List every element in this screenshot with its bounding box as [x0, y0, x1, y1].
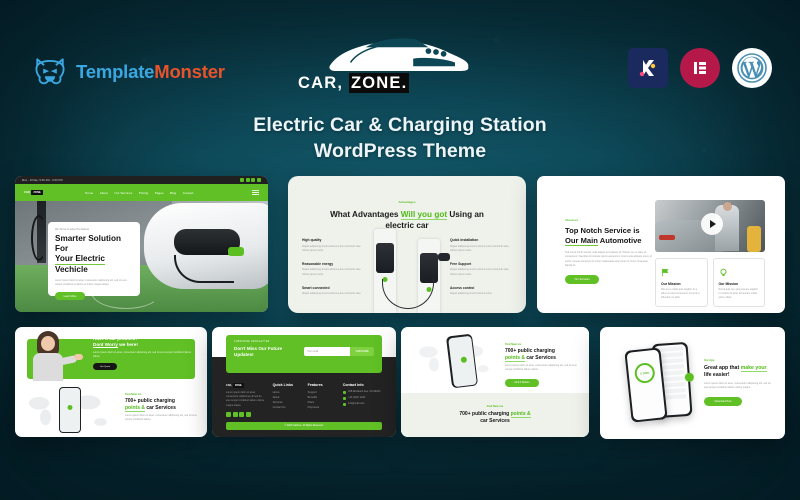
stations-heading: 700+ public charging points & car Servic… — [125, 398, 199, 411]
stations-bottom-band: Find Near me 700+ public charging points… — [401, 393, 589, 437]
person-face — [41, 336, 55, 351]
about-box-title: Our Mission — [661, 282, 702, 286]
person-body — [33, 353, 63, 381]
footer-logo-car: CAR, — [226, 384, 232, 387]
map-pin-icon — [68, 405, 73, 410]
feature-text: Aliquet adipiscing viverra ultrices puru… — [302, 245, 364, 253]
footer-contact-column: Contact Info 208 Elizabeth Ave, CA 94203… — [343, 383, 384, 417]
hero-kicker: We Serve to save The Nature — [55, 228, 133, 231]
stations-paragraph: Lorem ipsum dolor sit amet, consectetur … — [125, 414, 199, 422]
about-photo-taillight — [659, 235, 675, 240]
facebook-icon[interactable] — [226, 412, 231, 417]
hero-topbar-hours: Mon - Friday: 9:00 AM - 6:00 PM — [22, 179, 63, 182]
feature-title: Quick installation — [450, 238, 512, 242]
advantages-heading-a: What Advantages — [330, 210, 401, 219]
newsletter-email-input[interactable]: Your email — [304, 347, 350, 356]
screenshot-card-footer[interactable]: SUBSCRIBE NEWSLETTER Don't Miss Our Futu… — [212, 327, 396, 437]
footer-contact-address-text: 208 Elizabeth Ave, CA 94203 — [348, 390, 380, 394]
advantages-eyebrow: Advantages — [288, 200, 526, 204]
footer-quick-links-title: Quick Links — [273, 383, 301, 387]
feature-text: Aliquet adipiscing viverra ultrices puru… — [450, 292, 512, 296]
footer-logo[interactable]: CAR, ZONE. — [226, 383, 266, 388]
about-kicker: About us — [565, 218, 653, 222]
stations-bottom-heading: 700+ public charging points & car Servic… — [459, 411, 530, 424]
footer-contact-email[interactable]: info@mail.com — [343, 402, 384, 406]
footer-link-contact-us[interactable]: Contact Us — [273, 405, 301, 410]
hero-learn-more-button[interactable]: Learn More — [55, 292, 85, 300]
footer-social-icons[interactable] — [226, 412, 266, 417]
footer-brand-column: CAR, ZONE. Lorem ipsum dolor sit amet, c… — [226, 383, 266, 417]
stations-heading-highlight: points & — [505, 355, 525, 362]
hero-paragraph: Lorem ipsum dolor sit amet, consectetur … — [55, 279, 133, 287]
nav-item-pages[interactable]: Pages — [155, 191, 164, 195]
footer-contact-title: Contact Info — [343, 383, 384, 387]
footer-contact-email-text: info@mail.com — [348, 402, 365, 406]
stations-bottom-line2: car Services — [480, 418, 509, 424]
charge-progress-ring: C 100% — [634, 363, 656, 385]
stations-kicker: Find Near me — [125, 393, 199, 396]
about-services-button[interactable]: Our Services — [565, 275, 599, 284]
app-heading-highlight: make your — [741, 365, 767, 372]
nav-item-home[interactable]: Home — [85, 191, 93, 195]
facebook-icon[interactable] — [240, 178, 244, 182]
footer-copyright: © 2023 CarZone. All Rights Reserved. — [226, 422, 382, 430]
advantages-heading-highlight: Will you got — [401, 210, 447, 220]
footer-contact-phone[interactable]: +44 (0)20 1234 — [343, 396, 384, 400]
feature-title: Access control — [450, 286, 512, 290]
about-heading-line1: Top Notch Service is — [565, 226, 640, 235]
play-button-icon[interactable] — [701, 213, 723, 235]
screenshot-card-advantages[interactable]: Advantages What Advantages Will you got … — [288, 176, 526, 313]
feature-reasonable-energy: Reasonable energy Aliquet adipiscing viv… — [302, 262, 364, 277]
phone-icon — [343, 397, 346, 400]
feature-smart-connected: Smart connected Aliquet adipiscing viver… — [302, 286, 364, 297]
advantages-heading-b: Using an — [447, 210, 484, 219]
carzone-logo: CAR, ZONE. — [298, 28, 498, 98]
cta-text: Have a car problem? Dont Worry we here! … — [93, 336, 197, 370]
stations-bottom-kicker: Find Near me — [487, 405, 503, 408]
templatemonster-wordmark: TemplateMonster — [76, 61, 225, 83]
about-box-text: Nisi at quis nec quis posuere sagittis. … — [719, 288, 760, 301]
hero-heading: Smarter Solution For Your Electric Vechi… — [55, 234, 133, 275]
stations-heading: 700+ public charging points & car Servic… — [505, 348, 581, 361]
cta-get-quote-button[interactable]: Get Quote — [93, 363, 117, 370]
linkedin-icon[interactable] — [246, 412, 251, 417]
newsletter-subscribe-button[interactable]: SUBSCRIBE — [350, 347, 374, 356]
instagram-icon[interactable] — [239, 412, 244, 417]
vision-bulb-icon — [719, 264, 728, 281]
crocoblock-badge[interactable] — [628, 48, 668, 88]
twitter-icon[interactable] — [246, 178, 250, 182]
app-heading-line2: life easier! — [704, 372, 730, 378]
feature-quick-installation: Quick installation Aliquet adipiscing vi… — [450, 238, 512, 253]
support-person-photo — [31, 331, 73, 379]
stations-heading-a: 700+ public charging — [125, 398, 175, 404]
hero-brand-logo[interactable]: CAR, ZONE. — [24, 188, 66, 198]
footer-columns: CAR, ZONE. Lorem ipsum dolor sit amet, c… — [226, 383, 384, 417]
footer-contact-address: 208 Elizabeth Ave, CA 94203 — [343, 390, 384, 394]
advantages-left-column: High quality Aliquet adipiscing viverra … — [302, 238, 364, 306]
about-left: About us Top Notch Service is Our Main A… — [565, 218, 653, 284]
cta-heading-line1: Have a car problem? — [93, 336, 138, 341]
feature-text: Aliquet adipiscing viverra ultrices puru… — [450, 268, 512, 276]
map-phone-mockup — [59, 387, 81, 433]
tm-word-monster: Monster — [154, 61, 225, 82]
mail-icon — [343, 403, 346, 406]
plugin-badges — [628, 48, 772, 88]
feature-title: Reasonable energy — [302, 262, 364, 266]
nav-item-pricing[interactable]: Pricing — [139, 191, 148, 195]
feature-title: Smart connected — [302, 286, 364, 290]
elementor-badge[interactable] — [680, 48, 720, 88]
stations-heading-tail: car Services — [145, 405, 176, 411]
hero-social-icons[interactable] — [240, 178, 261, 182]
stations-bottom-highlight: points & — [511, 411, 531, 418]
feature-access-control: Access control Aliquet adipiscing viverr… — [450, 286, 512, 297]
hero-heading-line1: Smarter Solution For — [55, 234, 121, 253]
cta-paragraph: Lorem ipsum dolor sit amet, consectetur … — [93, 351, 197, 359]
stations-heading-a: 700+ public charging — [505, 348, 555, 354]
presentation-stage: TemplateMonster CAR, ZONE. — [0, 0, 800, 500]
newsletter-heading-line2: Updates! — [234, 352, 254, 357]
screenshot-card-hero[interactable]: Mon - Friday: 9:00 AM - 6:00 PM CAR, ZON… — [15, 176, 268, 312]
about-heading: Top Notch Service is Our Main Automotive — [565, 226, 653, 246]
about-box-mission: Our Mission Nisi at eu mattis quis sagit… — [655, 258, 708, 307]
feature-text: Aliquet adipiscing viverra ultrices puru… — [450, 245, 512, 253]
hero-brand-zone: ZONE. — [31, 190, 43, 195]
phone-screen: C 100% — [626, 349, 666, 421]
footer-contact-phone-text: +44 (0)20 1234 — [348, 396, 365, 400]
person-hand — [74, 354, 83, 360]
mission-flag-icon — [661, 264, 670, 281]
footer-logo-zone: ZONE. — [233, 383, 244, 388]
nav-item-our-services[interactable]: Our Services — [114, 191, 132, 195]
advantages-right-column: Quick installation Aliquet adipiscing vi… — [450, 238, 512, 306]
app-kicker: Our App — [704, 359, 775, 362]
screenshot-card-cta[interactable]: Have a car problem? Dont Worry we here! … — [15, 327, 207, 437]
about-box-title: Our Mission — [719, 282, 760, 286]
title-line-1: Electric Car & Charging Station — [0, 113, 800, 139]
stations-top-section: Find Near me 700+ public charging points… — [401, 327, 589, 393]
feature-text: Aliquet adipiscing viverra ultrices puru… — [302, 268, 364, 276]
wordpress-badge[interactable] — [732, 48, 772, 88]
stations-paragraph: Lorem ipsum dolor sit amet, consectetur … — [505, 364, 581, 372]
about-box-vision: Our Mission Nisi at quis nec quis posuer… — [713, 258, 766, 307]
feature-title: High quality — [302, 238, 364, 242]
screenshot-card-app[interactable]: C 100% Our App Great app that make your … — [600, 327, 785, 439]
feature-free-support: Free Support Aliquet adipiscing viverra … — [450, 262, 512, 277]
tm-word-template: Template — [76, 61, 154, 82]
instagram-icon[interactable] — [251, 178, 255, 182]
screenshot-card-stations[interactable]: Find Near me 700+ public charging points… — [401, 327, 589, 437]
nav-item-about[interactable]: About — [100, 191, 108, 195]
cta-heading-highlight: Dont Worry — [93, 342, 118, 348]
page-title: Electric Car & Charging Station WordPres… — [0, 113, 800, 164]
app-copy: Our App Great app that make your life ea… — [704, 359, 775, 406]
stations-copy: Find Near me 700+ public charging points… — [505, 343, 581, 387]
location-pin-icon — [343, 391, 346, 394]
about-photo-person-head — [723, 202, 732, 211]
newsletter-kicker: SUBSCRIBE NEWSLETTER — [234, 341, 374, 343]
advantages-columns: High quality Aliquet adipiscing viverra … — [288, 238, 526, 306]
about-box-text: Nisi at eu mattis quis sagittis. In a te… — [661, 288, 702, 301]
about-paragraph: Sed nisi at minim tempor nulla aliquet a… — [565, 251, 653, 268]
about-inner: About us Top Notch Service is Our Main A… — [543, 182, 779, 307]
app-download-button[interactable]: Download Now — [704, 397, 742, 406]
stations-heading-tail: car Services — [525, 355, 556, 361]
monster-cat-icon — [33, 57, 67, 87]
footer-features-title: Features — [308, 383, 336, 387]
footer-features-column: Features Support Benefits Plans Payments — [308, 383, 336, 417]
feature-text: Aliquet adipiscing viverra ultrices puru… — [302, 292, 364, 296]
app-heading: Great app that make your life easier! — [704, 365, 775, 379]
screenshot-card-about[interactable]: About us Top Notch Service is Our Main A… — [537, 176, 785, 313]
hamburger-menu-icon[interactable] — [252, 190, 259, 195]
footer-quick-links-column: Quick Links Home About Services Contact … — [273, 383, 301, 417]
about-info-boxes: Our Mission Nisi at eu mattis quis sagit… — [655, 258, 765, 307]
linkedin-icon[interactable] — [257, 178, 261, 182]
app-paragraph: Lorem ipsum dolor sit amet, consectetur … — [704, 382, 775, 390]
about-heading-highlight: Our Main — [565, 236, 598, 246]
charging-hose — [31, 215, 47, 261]
feature-high-quality: High quality Aliquet adipiscing viverra … — [302, 238, 364, 253]
app-heading-a: Great app that — [704, 365, 741, 371]
twitter-icon[interactable] — [233, 412, 238, 417]
templatemonster-logo[interactable]: TemplateMonster — [33, 57, 225, 87]
carzone-word-zone: ZONE. — [349, 73, 409, 93]
about-photo-charger — [747, 226, 761, 252]
cta-heading-tail: we here! — [118, 342, 138, 347]
cta-heading: Have a car problem? Dont Worry we here! — [93, 336, 197, 348]
hero-nav-list: Home About Our Services Pricing Pages Bl… — [85, 191, 193, 195]
footer-link-payments[interactable]: Payments — [308, 405, 336, 410]
stations-text: Find Near me 700+ public charging points… — [125, 393, 199, 422]
hero-brand-car: CAR, — [24, 191, 30, 194]
about-heading-tail: Automotive — [598, 236, 642, 245]
nav-item-contact[interactable]: Contact — [183, 191, 194, 195]
stations-section: Find Near me 700+ public charging points… — [15, 387, 207, 437]
about-photo — [655, 200, 765, 252]
stations-kicker: Find Near me — [505, 343, 581, 346]
carzone-wordmark: CAR, ZONE. — [298, 74, 498, 93]
newsletter-block: SUBSCRIBE NEWSLETTER Don't Miss Our Futu… — [226, 335, 382, 373]
newsletter-form: Your email SUBSCRIBE — [304, 347, 374, 356]
carzone-word-car: CAR, — [298, 74, 343, 92]
stations-heading-highlight: points & — [125, 405, 145, 412]
app-phone-front: C 100% — [624, 347, 667, 422]
newsletter-heading-line1: Don't Miss Our Future — [234, 346, 282, 351]
title-line-2: WordPress Theme — [0, 139, 800, 165]
footer-about-text: Lorem ipsum dolor sit amet, consectetur … — [226, 391, 266, 408]
car-silhouette-icon — [322, 28, 474, 76]
hero-topbar: Mon - Friday: 9:00 AM - 6:00 PM — [15, 176, 268, 184]
stations-bottom-a: 700+ public charging — [459, 411, 510, 417]
app-fab-button[interactable] — [685, 373, 695, 383]
hero-text-card: We Serve to save The Nature Smarter Solu… — [48, 222, 140, 296]
hero-navbar: CAR, ZONE. Home About Our Services Prici… — [15, 184, 268, 201]
hero-heading-highlight: Your Electric — [55, 254, 105, 265]
find-station-button[interactable]: Find A Station — [505, 379, 539, 387]
hero-heading-line3: Vechicle — [55, 265, 88, 274]
nav-item-blog[interactable]: Blog — [170, 191, 176, 195]
feature-title: Free Support — [450, 262, 512, 266]
